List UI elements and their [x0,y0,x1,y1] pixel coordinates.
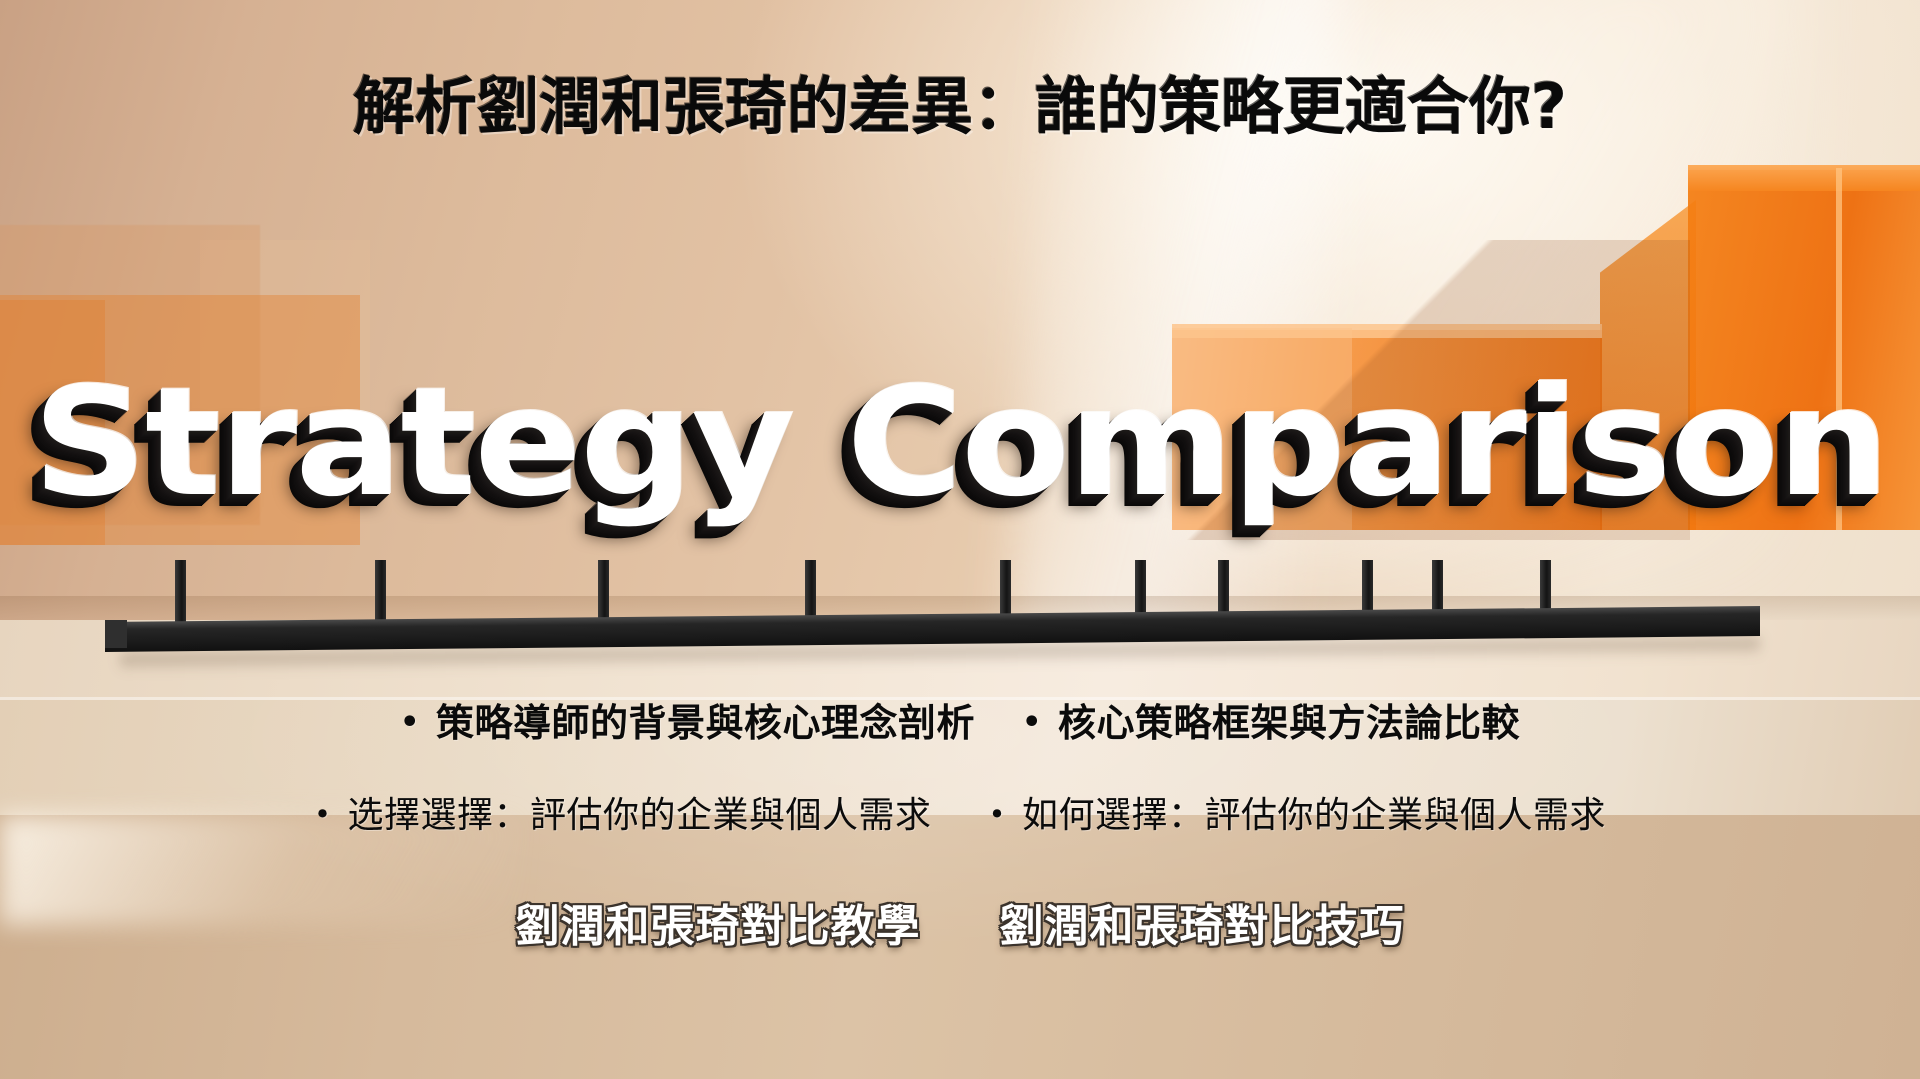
bullet-label: 核心策略框架與方法論比較 [1058,701,1520,745]
bullet-marker-icon: • [400,705,420,740]
bullet-item: •核心策略框架與方法論比較 [1022,692,1520,747]
bullet-item: •选擇選擇：評估你的企業與個人需求 [314,786,932,838]
bullet-marker-icon: • [1022,705,1042,740]
glass-panel-left-edge [0,300,105,545]
orange-block-tall [1688,170,1920,530]
letter-post [175,560,186,622]
letter-post [598,560,609,622]
bullet-marker-icon: • [314,797,332,831]
bullet-item: •如何選擇：評估你的企業與個人需求 [989,786,1607,838]
page-title: 解析劉潤和張琦的差異：誰的策略更適合你? [0,74,1920,139]
bullet-label: 策略導師的背景與核心理念剖析 [436,701,975,745]
caption-right: 劉潤和張琦對比技巧 [1000,890,1405,954]
bullet-marker-icon: • [989,797,1007,831]
bullet-row-secondary: •选擇選擇：評估你的企業與個人需求 •如何選擇：評估你的企業與個人需求 [0,786,1920,838]
bullet-label: 如何選擇：評估你的企業與個人需求 [1022,795,1606,836]
letter-post [375,560,386,622]
letter-post [805,560,816,622]
caption-left: 劉潤和張琦對比教學 [515,890,920,954]
orange-block-tall-top [1688,165,1920,191]
bullet-row-primary: •策略導師的背景與核心理念剖析 •核心策略框架與方法論比較 [0,692,1920,747]
bullet-item: •策略導師的背景與核心理念剖析 [400,692,975,747]
caption-row: 劉潤和張琦對比教學 劉潤和張琦對比技巧 [0,890,1920,954]
display-rail-cap [105,620,127,648]
orange-block-tall-highlight [1836,168,1842,530]
bullet-label: 选擇選擇：評估你的企業與個人需求 [347,795,931,836]
slide-canvas: 解析劉潤和張琦的差異：誰的策略更適合你? Strategy Comparison… [0,0,1920,1079]
